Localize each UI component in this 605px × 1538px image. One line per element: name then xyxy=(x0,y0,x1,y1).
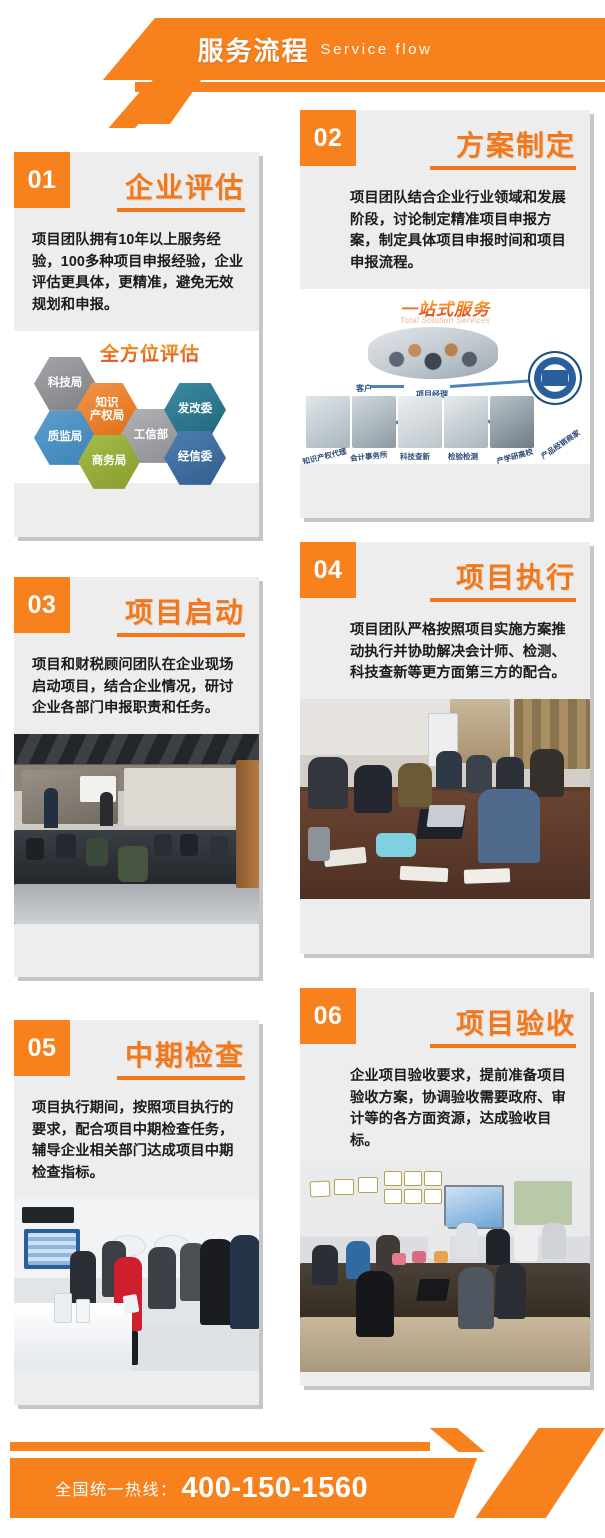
card-description: 项目团队拥有10年以上服务经验，100多种项目申报经验，企业评估更具体，更精准，… xyxy=(14,226,259,331)
card-title-underline xyxy=(117,1076,245,1080)
flow-card-04: 04 项目执行 项目团队严格按照项目实施方案推动执行并协助解决会计师、检测、科技… xyxy=(300,542,590,954)
card-description: 项目和财税顾问团队在企业现场启动项目，结合企业情况，研讨企业各部门申报职责和任务… xyxy=(14,651,259,734)
one-stop-thumb-accounting xyxy=(352,396,396,448)
card-description: 企业项目验收要求，提前准备项目验收方案，协调验收需要政府、审计等的各方面资源，达… xyxy=(300,1062,590,1167)
card-number-badge: 06 xyxy=(300,988,356,1044)
card-photo-kickoff-meeting xyxy=(14,734,259,924)
flow-card-05: 05 中期检查 项目执行期间，按照项目执行的要求，配合项目中期检查任务，辅导企业… xyxy=(14,1020,259,1405)
one-stop-label-novelty: 科技查新 xyxy=(400,451,430,462)
header-title-group: 服务流程 Service flow xyxy=(0,18,590,80)
card-title: 方案制定 xyxy=(456,124,576,164)
one-stop-thumb-novelty xyxy=(398,396,442,448)
flow-card-03: 03 项目启动 项目和财税顾问团队在企业现场启动项目，结合企业情况，研讨企业各部… xyxy=(14,577,259,977)
one-stop-label-testing: 检验检测 xyxy=(448,451,478,462)
footer-hotline-group: 全国统一热线： 400-150-1560 xyxy=(55,1458,368,1518)
card-title: 企业评估 xyxy=(125,166,245,206)
one-stop-label-university: 产学研高校 xyxy=(495,446,534,464)
card-photo-execution-meeting xyxy=(300,699,590,899)
card-title-underline xyxy=(430,1044,576,1048)
page-subtitle: Service flow xyxy=(320,41,432,58)
one-stop-service-diagram: 一站式服务 Total Solution Services 客户 项目经理 知识… xyxy=(300,289,590,464)
card-description: 项目团队结合企业行业领域和发展阶段，讨论制定精准项目申报方案，制定具体项目申报时… xyxy=(300,184,590,289)
one-stop-arrow-8 xyxy=(450,379,532,388)
card-number-badge: 05 xyxy=(14,1020,70,1076)
card-title-underline xyxy=(430,166,576,170)
card-number-badge: 03 xyxy=(14,577,70,633)
page-header: 服务流程 Service flow xyxy=(0,0,605,120)
one-stop-label-ip: 知识产权代理 xyxy=(301,446,347,464)
card-number-badge: 01 xyxy=(14,152,70,208)
service-flow-poster: 服务流程 Service flow 01 企业评估 项目团队拥有10年以上服务经… xyxy=(0,0,605,1538)
footer-thin-stripe xyxy=(10,1442,430,1451)
header-thin-stripe xyxy=(135,82,605,92)
flow-card-06: 06 项目验收 企业项目验收要求，提前准备项目验收方案，协调验收需要政府、审计等… xyxy=(300,988,590,1386)
card-photo-showroom-visit xyxy=(14,1199,259,1371)
one-stop-thumb-testing xyxy=(444,396,488,448)
one-stop-thumb-ip xyxy=(306,396,350,448)
card-number-badge: 04 xyxy=(300,542,356,598)
page-footer: 全国统一热线： 400-150-1560 xyxy=(0,1400,605,1538)
card-title: 项目执行 xyxy=(456,556,576,596)
card-photo-acceptance-review xyxy=(300,1167,590,1372)
card-title-underline xyxy=(117,208,245,212)
card-description: 项目执行期间，按照项目执行的要求，配合项目中期检查任务，辅导企业相关部门达成项目… xyxy=(14,1094,259,1199)
card-title: 项目验收 xyxy=(456,1002,576,1042)
assessment-hexagon-diagram: 全方位评估 科技局 知识 产权局 质监局 工信部 商务局 发改委 经信委 xyxy=(14,331,259,483)
one-stop-subtitle: Total Solution Services xyxy=(300,316,590,325)
hexagon-diagram-title: 全方位评估 xyxy=(100,339,200,366)
one-stop-label-accounting: 会计事务所 xyxy=(350,449,388,464)
one-stop-certification-seal xyxy=(528,351,582,405)
one-stop-thumb-university xyxy=(490,396,534,448)
one-stop-label-distributor: 产品经销商家 xyxy=(539,427,582,461)
card-title-underline xyxy=(430,598,576,602)
one-stop-arrow-1 xyxy=(370,385,404,388)
card-title-underline xyxy=(117,633,245,637)
hotline-label: 全国统一热线： xyxy=(55,1476,178,1500)
card-title: 中期检查 xyxy=(125,1034,245,1074)
card-description: 项目团队严格按照项目实施方案推动执行并协助解决会计师、检测、科技查新等更方面第三… xyxy=(300,616,590,699)
card-number-badge: 02 xyxy=(300,110,356,166)
page-title: 服务流程 xyxy=(197,31,309,68)
hotline-number[interactable]: 400-150-1560 xyxy=(182,1472,369,1505)
flow-card-02: 02 方案制定 项目团队结合企业行业领域和发展阶段，讨论制定精准项目申报方案，制… xyxy=(300,110,590,518)
one-stop-team-photo xyxy=(368,327,498,379)
flow-card-01: 01 企业评估 项目团队拥有10年以上服务经验，100多种项目申报经验，企业评估… xyxy=(14,152,259,537)
card-title: 项目启动 xyxy=(125,591,245,631)
